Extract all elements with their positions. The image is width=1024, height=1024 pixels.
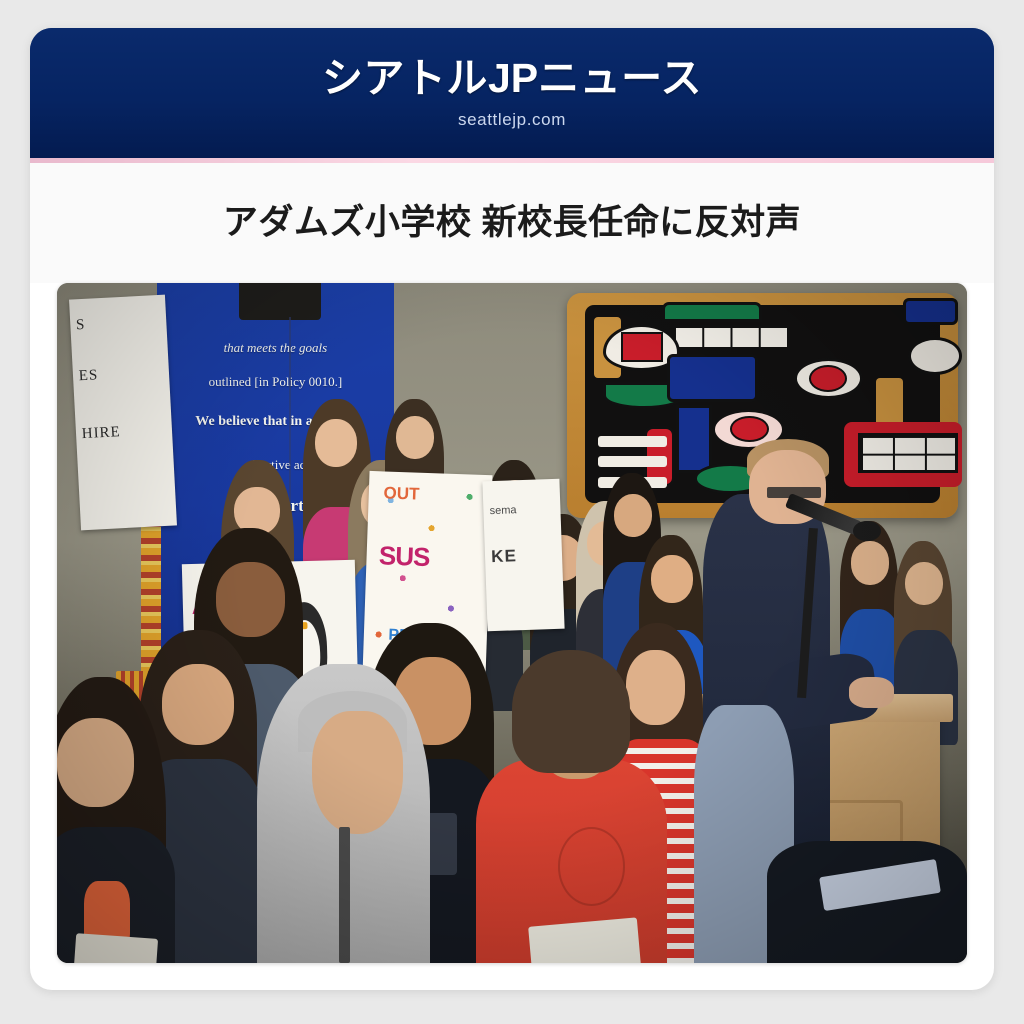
colorful-sign-line-1: OUT [384,484,421,505]
foreground-person-face [57,718,134,806]
colorful-sign-line-2: SUS [379,541,431,574]
formline-teeth-upper [671,325,789,349]
article-photo-wrap: education that meets the goals outlined … [30,283,994,990]
ceiling-projector [239,283,321,320]
article-headline: アダムズ小学校 新校長任命に反対声 [223,201,801,246]
formline-teeth-right [858,433,958,474]
speaker-hand [849,677,895,708]
projector-cord [289,317,291,521]
foreground-person-face [626,650,685,725]
small-sign-line-1: sema [489,504,516,517]
formline-white-bar-1 [598,436,666,447]
banner-line-2: that meets the goals [167,340,385,356]
formline-pupil-upper-right [809,365,847,392]
formline-pupil-center [730,416,768,442]
formline-white-bar-2 [598,456,666,467]
brand-part-jp-2: ニュース [538,55,702,101]
protest-sign-small: sema KE [482,479,565,631]
banner-line-3: outlined [in Policy 0010.] [167,374,385,390]
protest-sign-left-line-2: ES [79,364,164,385]
small-sign-line-2: KE [491,546,517,567]
attendee-face [851,541,889,585]
formline-blue-shape-mid [667,354,758,402]
attendee-face [396,416,434,460]
formline-green-shape-top [662,302,762,322]
formline-pupil-left [621,332,663,362]
foreground-person-face [216,562,284,637]
headline-band: アダムズ小学校 新校長任命に反対声 [30,163,994,283]
handout-paper [528,918,641,963]
brown-beanie [512,650,630,772]
hoodie-drawstring [339,827,350,963]
brand-part-latin: JP [488,55,538,101]
microphone-head [853,521,880,541]
protest-sign-left-line-1: S [76,313,161,334]
attendee-face [315,419,357,467]
brand-part-jp-1: シアトル [322,55,488,101]
foreground-person-face [162,664,235,746]
attendee-face [905,562,943,606]
news-card: シアトルJPニュース seattlejp.com アダムズ小学校 新校長任命に反… [30,28,994,990]
formline-blue-shape-top [903,298,958,325]
article-photo: education that meets the goals outlined … [57,283,967,963]
attendee-face [614,494,652,538]
site-masthead: シアトルJPニュース seattlejp.com [30,28,994,158]
protest-sign-left-line-3: HIRE [82,422,167,443]
site-brand-title: シアトルJPニュース [322,58,702,99]
protest-sign-left: S ES HIRE [69,294,177,530]
red-shirt-graphic [558,827,626,906]
formline-blue-bar [676,405,712,473]
site-domain: seattlejp.com [458,111,566,128]
hooded-person-face [312,711,403,833]
handout-paper [74,933,158,963]
attendee-face [651,555,693,603]
